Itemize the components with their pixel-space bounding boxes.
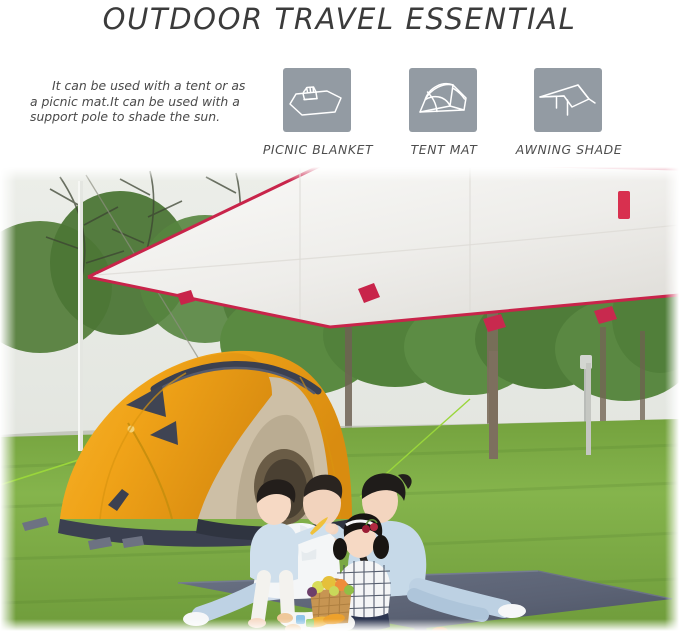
product-infographic-page: OUTDOOR TRAVEL ESSENTIAL It can be used … (0, 0, 679, 631)
support-pole (78, 181, 83, 451)
pigtail-right (373, 535, 389, 559)
feature-label: PICNIC BLANKET (263, 142, 373, 157)
feature-label: TENT MAT (411, 142, 478, 157)
picnic-blanket-icon (283, 68, 351, 132)
intro-description: It can be used with a tent or as a picni… (30, 78, 255, 125)
tarp-pole-right (586, 363, 591, 455)
feature-label: AWNING SHADE (516, 142, 622, 157)
camping-scene-illustration (0, 167, 679, 631)
photo-canvas (0, 167, 679, 631)
tarp-pole-center (489, 351, 498, 459)
feature-picnic-blanket: PICNIC BLANKET (283, 68, 353, 132)
pigtail-left (333, 538, 347, 560)
awning-shade-icon (534, 68, 602, 132)
page-title: OUTDOOR TRAVEL ESSENTIAL (0, 2, 679, 36)
tarp-tab-1 (618, 191, 630, 219)
tent-mat-icon (409, 68, 477, 132)
feature-tent-mat: TENT MAT (409, 68, 479, 132)
mat-corner-tab (414, 625, 428, 631)
product-lifestyle-photo (0, 167, 679, 631)
feature-awning-shade: AWNING SHADE (534, 68, 604, 132)
toy-block-blue (296, 615, 305, 624)
toy-block-green (306, 619, 314, 627)
